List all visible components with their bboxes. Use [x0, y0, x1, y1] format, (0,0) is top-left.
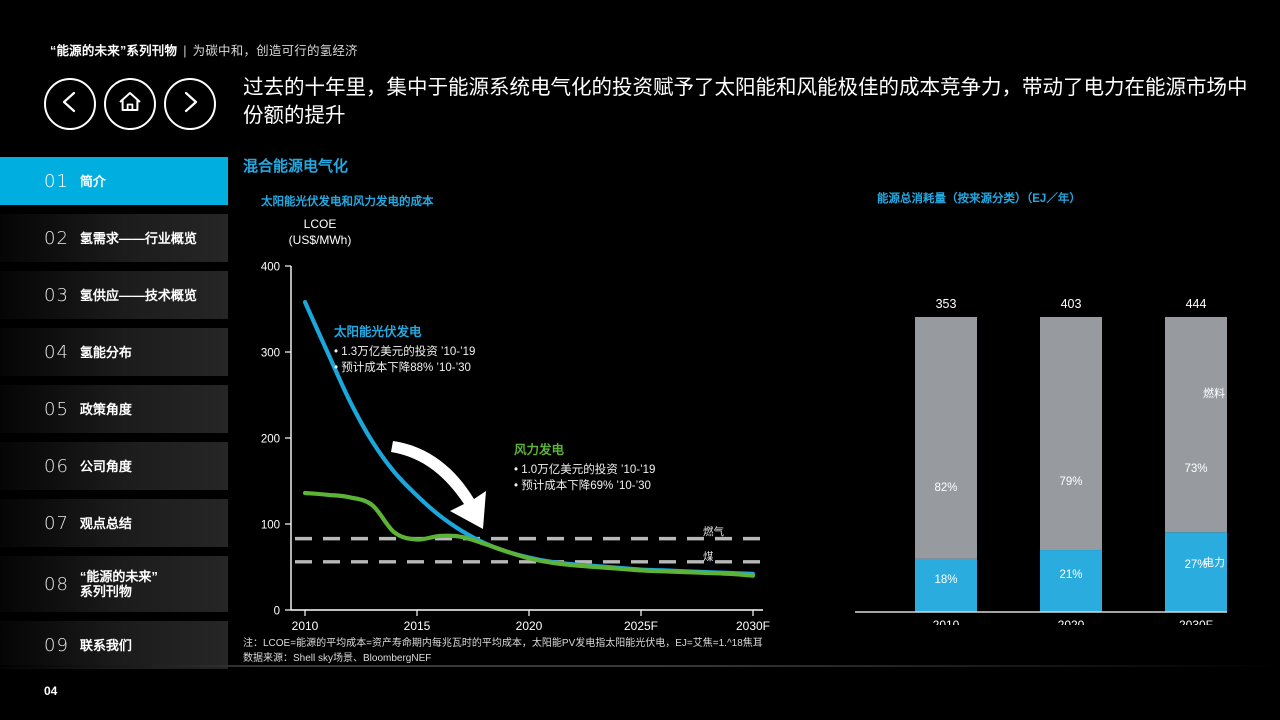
bar-segment-electricity [1040, 550, 1102, 612]
sidebar-nav: 01简介02氢需求——行业概览03氢供应——技术概览04氢能分布05政策角度06… [0, 157, 228, 678]
bar-fuel-pct-label: 79% [1059, 476, 1082, 488]
bar-segment-fuel [1040, 317, 1102, 550]
y-axis-label: LCOE [265, 216, 375, 232]
prev-arrow-icon [59, 90, 81, 119]
bar-chart-title: 能源总消耗量（按来源分类）（EJ／年） [877, 190, 1081, 206]
x-tick-label: 2030F [736, 619, 770, 633]
sidebar-item-number: 02 [44, 228, 69, 249]
wind-annotation-bullet: • 1.0万亿美元的投资 ’10-’19 [514, 462, 655, 478]
x-axis-ticks: 2010201520202025F2030F [292, 610, 770, 633]
solar-annotation-bullet: • 预计成本下降88% ’10-’30 [334, 360, 475, 376]
bar-segment-electricity [1165, 532, 1227, 612]
bar-stack: 35382%18% [915, 297, 977, 612]
slide-headline: 过去的十年里，集中于能源系统电气化的投资赋予了太阳能和风能极佳的成本竞争力，带动… [243, 74, 1253, 130]
sidebar-item-label: 公司角度 [80, 459, 132, 474]
wind-annotation: 风力发电 • 1.0万亿美元的投资 ’10-’19 • 预计成本下降69% ’1… [514, 439, 655, 494]
solar-annotation: 太阳能光伏发电 • 1.3万亿美元的投资 ’10-’19 • 预计成本下降88%… [334, 321, 475, 376]
sidebar-item-label: 氢能分布 [80, 345, 132, 360]
bar-electricity-pct-label: 21% [1059, 569, 1082, 581]
bottom-divider [0, 665, 1280, 667]
x-tick-label: 2025F [624, 619, 658, 633]
y-tick-label: 300 [261, 348, 280, 360]
sidebar-item-05[interactable]: 05政策角度 [0, 385, 228, 433]
sidebar-item-number: 07 [44, 513, 69, 534]
bar-segment-fuel [915, 317, 977, 559]
sidebar-item-08[interactable]: 08“能源的未来”系列刊物 [0, 556, 228, 612]
bar-total-label: 353 [936, 297, 957, 311]
footnote-line: 数据来源：Shell sky场景、BloombergNEF [243, 651, 763, 666]
sidebar-item-number: 01 [44, 171, 69, 192]
brand-bar: “能源的未来”系列刊物|为碳中和，创造可行的氢经济 [50, 40, 358, 59]
bar-fuel-pct-label: 82% [934, 482, 957, 494]
next-arrow-icon [179, 90, 201, 119]
sidebar-item-number: 03 [44, 285, 69, 306]
sidebar-item-label: 简介 [80, 174, 106, 189]
sidebar-item-07[interactable]: 07观点总结 [0, 499, 228, 547]
footnote-line: 注：LCOE=能源的平均成本=资产寿命期内每兆瓦时的平均成本，太阳能PV发电指太… [243, 636, 763, 651]
y-axis-ticks: 0100200300400 [261, 262, 291, 618]
bar-chart: 35382%18%40379%21%44473%27% 201020202030… [845, 250, 1245, 625]
footnote: 注：LCOE=能源的平均成本=资产寿命期内每兆瓦时的平均成本，太阳能PV发电指太… [243, 636, 763, 666]
sidebar-item-number: 05 [44, 399, 69, 420]
sidebar-item-number: 08 [44, 574, 69, 595]
y-tick-label: 200 [261, 434, 280, 446]
sidebar-item-label: 观点总结 [80, 516, 132, 531]
sidebar-item-label: 氢需求——行业概览 [80, 231, 197, 246]
bar-total-label: 444 [1186, 297, 1207, 311]
slide-root: “能源的未来”系列刊物|为碳中和，创造可行的氢经济 过去的十年里，集中于能源系统 [0, 0, 1280, 720]
x-tick-label: 2015 [404, 619, 431, 633]
sidebar-item-label: “能源的未来”系列刊物 [80, 569, 158, 599]
y-tick-label: 0 [274, 606, 280, 618]
x-tick-label: 2010 [292, 619, 319, 633]
y-axis-unit: (US$/MWh) [265, 232, 375, 248]
sidebar-item-number: 06 [44, 456, 69, 477]
bar-total-label: 403 [1061, 297, 1082, 311]
wind-annotation-bullet: • 预计成本下降69% ’10-’30 [514, 478, 655, 494]
line-chart-title: 太阳能光伏发电和风力发电的成本 [261, 193, 434, 209]
sidebar-item-09[interactable]: 09联系我们 [0, 621, 228, 669]
sidebar-item-number: 09 [44, 635, 69, 656]
x-tick-label: 2020 [516, 619, 543, 633]
bar-chart-x-labels: 201020202030F [933, 618, 1213, 625]
coal-reference-label: 煤 [703, 549, 714, 564]
sidebar-item-label: 联系我们 [80, 638, 132, 653]
bar-x-label: 2010 [933, 618, 960, 625]
bar-fuel-pct-label: 73% [1184, 463, 1207, 475]
home-icon [117, 90, 143, 119]
bar-legend-electricity: 电力 [1203, 554, 1225, 570]
page-number: 04 [44, 684, 57, 698]
sidebar-item-03[interactable]: 03氢供应——技术概览 [0, 271, 228, 319]
home-button[interactable] [104, 78, 156, 130]
sidebar-item-label: 氢供应——技术概览 [80, 288, 197, 303]
bar-groups: 35382%18%40379%21%44473%27% [915, 297, 1227, 612]
brand-separator: | [183, 44, 186, 58]
sidebar-item-01[interactable]: 01简介 [0, 157, 228, 205]
y-tick-label: 400 [261, 262, 280, 274]
bar-stack: 40379%21% [1040, 297, 1102, 612]
next-button[interactable] [164, 78, 216, 130]
page-title: 混合能源电气化 [243, 155, 348, 176]
gas-reference-label: 燃气 [703, 524, 724, 539]
bar-electricity-pct-label: 18% [934, 574, 957, 586]
sidebar-item-number: 04 [44, 342, 69, 363]
sidebar-item-06[interactable]: 06公司角度 [0, 442, 228, 490]
bar-x-label: 2020 [1058, 618, 1085, 625]
sidebar-item-04[interactable]: 04氢能分布 [0, 328, 228, 376]
y-tick-label: 100 [261, 520, 280, 532]
bar-x-label: 2030F [1179, 618, 1213, 625]
line-chart-y-axis-caption: LCOE (US$/MWh) [265, 216, 375, 248]
slide-navigation [44, 78, 216, 130]
bar-segment-fuel [1165, 317, 1227, 532]
sidebar-item-02[interactable]: 02氢需求——行业概览 [0, 214, 228, 262]
wind-annotation-title: 风力发电 [514, 439, 655, 458]
brand-subtitle: 为碳中和，创造可行的氢经济 [193, 44, 358, 58]
prev-button[interactable] [44, 78, 96, 130]
solar-annotation-bullet: • 1.3万亿美元的投资 ’10-’19 [334, 344, 475, 360]
solar-annotation-title: 太阳能光伏发电 [334, 321, 475, 340]
sidebar-item-label: 政策角度 [80, 402, 132, 417]
brand-title: “能源的未来”系列刊物 [50, 44, 177, 58]
bar-legend-fuel: 燃料 [1203, 385, 1225, 401]
